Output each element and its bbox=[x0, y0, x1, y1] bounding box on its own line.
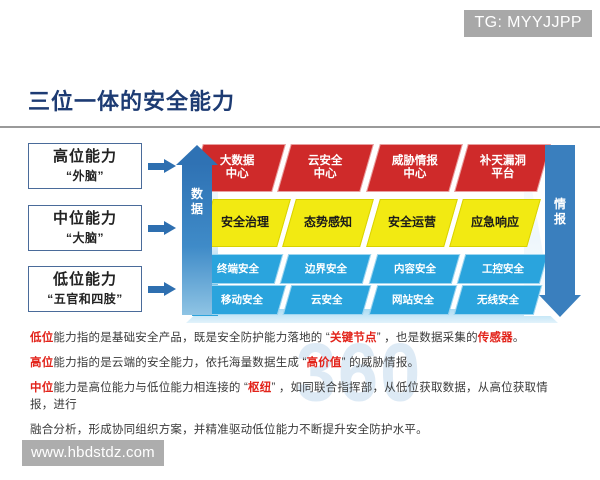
note-mid-capability-cont: 融合分析，形成协同组织方案，并精准驱动低位能力不断提升安全防护水平。 bbox=[30, 422, 570, 440]
note-text: 能力是高位能力与低位能力相连接的 “ bbox=[53, 382, 248, 394]
note-highlight: 高价值 bbox=[307, 357, 342, 369]
pyramid-cell-line1: 边界安全 bbox=[305, 263, 347, 275]
note-highlight: 传感器 bbox=[478, 332, 513, 344]
pyramid-tier-high: 大数据中心云安全中心威胁情报中心补天漏洞平台 bbox=[196, 144, 544, 192]
note-highlight: 低位 bbox=[30, 332, 53, 344]
arrow-shaft bbox=[148, 163, 165, 170]
note-low-capability: 低位能力指的是基础安全产品，既是安全防护能力落地的 “关键节点” ，也是数据采集… bbox=[30, 330, 570, 348]
arrow-up-body bbox=[182, 163, 212, 315]
pyramid-cell-line1: 大数据 bbox=[220, 155, 255, 168]
arrow-right-icon-mid bbox=[148, 221, 176, 235]
capability-name-mid: 中位能力 bbox=[53, 210, 117, 227]
pyramid-cell[interactable]: 内容安全 bbox=[368, 254, 460, 284]
pyramid-cell-label: 云安全中心 bbox=[309, 155, 344, 181]
pyramid-cell-line2: 中心 bbox=[220, 168, 255, 181]
arrow-right-icon-high bbox=[148, 159, 176, 173]
arrow-shaft bbox=[148, 286, 165, 293]
note-mid-capability: 中位能力是高位能力与低位能力相连接的 “枢纽” ，如同联合指挥部，从低位获取数据… bbox=[30, 380, 570, 416]
pyramid-cell[interactable]: 安全治理 bbox=[199, 199, 291, 247]
capability-alias-mid: “大脑” bbox=[66, 229, 104, 246]
pyramid-cell[interactable]: 无线安全 bbox=[453, 285, 542, 315]
note-text: 能力指的是基础安全产品，既是安全防护能力落地的 “ bbox=[53, 332, 330, 344]
capability-alias-high: “外脑” bbox=[66, 167, 104, 184]
watermark-bottom-left: www.hbdstdz.com bbox=[22, 440, 164, 466]
note-highlight: 枢纽 bbox=[248, 382, 271, 394]
arrow-head bbox=[164, 159, 176, 173]
note-highlight: 中位 bbox=[30, 382, 53, 394]
pyramid-cell-line1: 云安全 bbox=[309, 155, 344, 168]
arrow-right-icon-low bbox=[148, 282, 176, 296]
arrow-down-icon-intel: 情 报 bbox=[545, 145, 575, 317]
pyramid-tier-mid: 安全治理态势感知安全运营应急响应 bbox=[196, 199, 544, 247]
notes-block: 低位能力指的是基础安全产品，既是安全防护能力落地的 “关键节点” ，也是数据采集… bbox=[30, 330, 570, 447]
note-text: 融合分析，形成协同组织方案，并精准驱动低位能力不断提升安全防护水平。 bbox=[30, 424, 428, 436]
pyramid-cell[interactable]: 态势感知 bbox=[282, 199, 374, 247]
pyramid-cell[interactable]: 云安全中心 bbox=[277, 144, 374, 192]
pyramid-cell-line1: 内容安全 bbox=[393, 263, 435, 275]
note-high-capability: 高位能力指的是云端的安全能力，依托海量数据生成 “高价值” 的威胁情报。 bbox=[30, 355, 570, 373]
note-highlight: 高位 bbox=[30, 357, 53, 369]
pyramid-cell-label: 内容安全 bbox=[393, 263, 435, 275]
pyramid-tier-low-a: 终端安全边界安全内容安全工控安全 bbox=[196, 254, 544, 284]
arrow-down-label-char1: 情 bbox=[545, 197, 575, 212]
arrow-down-label-char2: 报 bbox=[545, 212, 575, 227]
pyramid-cell-label: 终端安全 bbox=[217, 263, 259, 275]
pyramid-cell-line1: 应急响应 bbox=[471, 216, 519, 230]
pyramid-cell-label: 大数据中心 bbox=[220, 155, 255, 181]
pyramid-cell-line1: 态势感知 bbox=[304, 216, 352, 230]
pyramid-cell-label: 网站安全 bbox=[392, 294, 434, 306]
pyramid-cell-line1: 工控安全 bbox=[481, 263, 523, 275]
header-divider bbox=[0, 126, 600, 128]
pyramid-cell-line1: 安全治理 bbox=[221, 216, 269, 230]
note-text: ” 的威胁情报。 bbox=[342, 357, 420, 369]
arrow-up-head bbox=[176, 145, 218, 165]
pyramid-cell-label: 工控安全 bbox=[481, 263, 523, 275]
pyramid-cell[interactable]: 网站安全 bbox=[368, 285, 457, 315]
pyramid-cell-label: 安全治理 bbox=[221, 216, 269, 230]
arrow-up-label-char2: 据 bbox=[182, 202, 212, 217]
capability-box-mid[interactable]: 中位能力 “大脑” bbox=[28, 205, 142, 251]
pyramid-cell[interactable]: 安全运营 bbox=[366, 199, 458, 247]
pyramid-cell-line1: 移动安全 bbox=[221, 294, 263, 306]
pyramid-cell-label: 应急响应 bbox=[471, 216, 519, 230]
note-text: 能力指的是云端的安全能力，依托海量数据生成 “ bbox=[53, 357, 306, 369]
pyramid-tier-low-b: 移动安全云安全网站安全无线安全 bbox=[196, 285, 544, 315]
arrow-up-label-char1: 数 bbox=[182, 187, 212, 202]
watermark-top-right: TG: MYYJJPP bbox=[464, 10, 592, 37]
pyramid-cell[interactable]: 工控安全 bbox=[456, 254, 548, 284]
note-text: 。 bbox=[513, 332, 525, 344]
pyramid-cell-label: 无线安全 bbox=[477, 294, 519, 306]
pyramid-cell-line1: 网站安全 bbox=[392, 294, 434, 306]
note-highlight: 关键节点 bbox=[330, 332, 377, 344]
pyramid-cell[interactable]: 边界安全 bbox=[280, 254, 372, 284]
arrow-down-label: 情 报 bbox=[545, 197, 575, 227]
pyramid-cell[interactable]: 云安全 bbox=[283, 285, 372, 315]
pyramid-cell-line2: 中心 bbox=[309, 168, 344, 181]
arrow-down-head bbox=[539, 295, 581, 317]
capability-box-high[interactable]: 高位能力 “外脑” bbox=[28, 143, 142, 189]
note-text: ” ，也是数据采集的 bbox=[377, 332, 478, 344]
pyramid-cell-label: 补天漏洞平台 bbox=[479, 155, 525, 181]
pyramid-cell[interactable]: 应急响应 bbox=[449, 199, 541, 247]
pyramid-cell-line2: 平台 bbox=[479, 168, 525, 181]
capability-name-high: 高位能力 bbox=[53, 148, 117, 165]
arrow-up-icon-data: 数 据 bbox=[182, 145, 212, 315]
pyramid-cell-line1: 云安全 bbox=[312, 294, 344, 306]
pyramid-cell-line1: 威胁情报 bbox=[391, 155, 437, 168]
arrow-head bbox=[164, 221, 176, 235]
page-title: 三位一体的安全能力 bbox=[28, 84, 235, 116]
pyramid-cell-label: 移动安全 bbox=[221, 294, 263, 306]
capability-name-low: 低位能力 bbox=[53, 271, 117, 288]
pyramid-cell[interactable]: 威胁情报中心 bbox=[366, 144, 463, 192]
pyramid-cell[interactable]: 补天漏洞平台 bbox=[454, 144, 551, 192]
pyramid-cell-line1: 补天漏洞 bbox=[479, 155, 525, 168]
pyramid-cell-label: 态势感知 bbox=[304, 216, 352, 230]
pyramid-cell-line2: 中心 bbox=[391, 168, 437, 181]
pyramid-cell-label: 安全运营 bbox=[388, 216, 436, 230]
capability-box-low[interactable]: 低位能力 “五官和四肢” bbox=[28, 266, 142, 312]
pyramid-cell-line1: 安全运营 bbox=[388, 216, 436, 230]
pyramid-cell-label: 云安全 bbox=[312, 294, 344, 306]
capability-alias-low: “五官和四肢” bbox=[47, 290, 123, 307]
pyramid-cell-label: 威胁情报中心 bbox=[391, 155, 437, 181]
pyramid-cell-line1: 终端安全 bbox=[217, 263, 259, 275]
arrow-up-label: 数 据 bbox=[182, 187, 212, 217]
arrow-head bbox=[164, 282, 176, 296]
arrow-shaft bbox=[148, 225, 165, 232]
pyramid-cell-line1: 无线安全 bbox=[477, 294, 519, 306]
pyramid-cell-label: 边界安全 bbox=[305, 263, 347, 275]
